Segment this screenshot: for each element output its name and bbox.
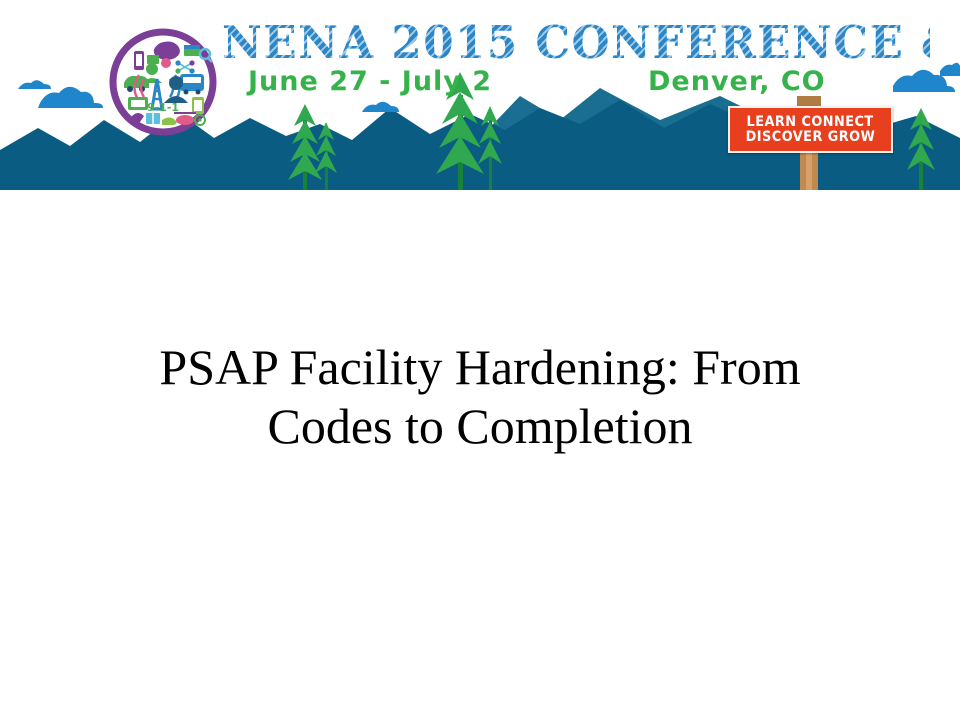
nena-logo-badge-icon: 9-1-1: [108, 27, 218, 137]
conference-dates: June 27 - July 2: [248, 66, 492, 97]
tagline-line-2: DISCOVER GROW: [746, 130, 876, 145]
slide-title: PSAP Facility Hardening: From Codes to C…: [48, 338, 912, 456]
tagline-line-1: LEARN CONNECT: [747, 115, 874, 130]
nena-conference-banner: NENA 2015 CONFERENCE & EXPO June 27 - Ju…: [0, 0, 960, 190]
tagline-sign: LEARN CONNECT DISCOVER GROW: [728, 106, 893, 153]
slide-title-line-2: Codes to Completion: [48, 397, 912, 456]
slide-title-line-1: PSAP Facility Hardening: From: [48, 338, 912, 397]
conference-wordmark: NENA 2015 CONFERENCE & EXPO: [222, 16, 930, 70]
conference-city: Denver, CO: [648, 66, 826, 97]
presentation-slide: NENA 2015 CONFERENCE & EXPO June 27 - Ju…: [0, 0, 960, 720]
